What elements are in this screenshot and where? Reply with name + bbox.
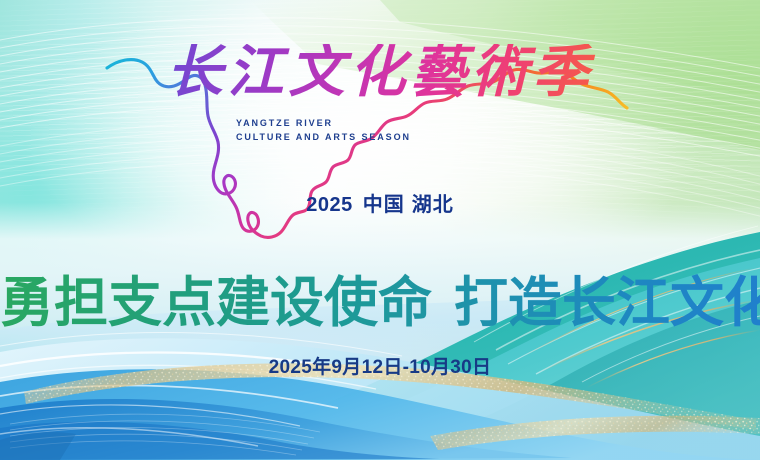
calligraphy-title: 长江文化藝術季	[0, 44, 760, 100]
promotional-banner: 长江文化藝術季 YANGTZE RIVER CULTURE AND ARTS S…	[0, 0, 760, 460]
banner-content: 长江文化藝術季 YANGTZE RIVER CULTURE AND ARTS S…	[0, 0, 760, 460]
english-subtitle-line-1: YANGTZE RIVER	[236, 116, 411, 130]
event-province: 湖北	[412, 194, 454, 216]
event-country: 中国	[363, 194, 405, 216]
slogan-part-1: 勇担支点建设使命	[0, 273, 432, 333]
event-date-range: 2025年9月12日-10月30日	[0, 352, 760, 379]
year-location-line: 2025中国湖北	[0, 188, 760, 217]
english-subtitle-line-2: CULTURE AND ARTS SEASON	[236, 130, 411, 144]
english-subtitle: YANGTZE RIVER CULTURE AND ARTS SEASON	[236, 116, 411, 144]
slogan-part-2: 打造长江文化高地	[454, 273, 760, 333]
event-year: 2025	[306, 194, 353, 216]
main-slogan: 勇担支点建设使命打造长江文化高地	[0, 271, 760, 335]
